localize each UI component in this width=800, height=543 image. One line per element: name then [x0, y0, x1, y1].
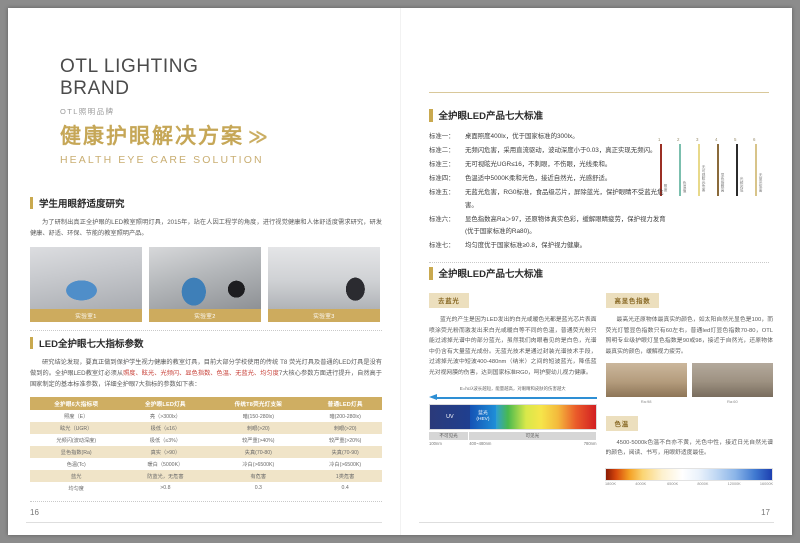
cri-image-2	[692, 363, 773, 397]
table-row: 蓝光 防蓝光，无危害 有危害 1类危害	[30, 470, 382, 482]
standard-item: 标准三： 无可视眩光UGR≤16，不刺眼，不伤眼，光线柔和。	[429, 159, 669, 172]
cct-tick-6: 16000K	[760, 482, 773, 486]
mini-col-5	[736, 144, 738, 196]
cct-tick-5: 12000K	[728, 482, 741, 486]
table-header-0: 全护眼6大指标项	[30, 397, 122, 410]
spectrum-bar: UV 蓝光 (HEV)	[429, 404, 597, 430]
feature-card-group: 去蓝光 蓝光的产生是因为LED发出的白光或暖色光都是蓝光芯片表面喷涂荧光粉而激发…	[429, 290, 773, 459]
section-divider-2	[30, 501, 382, 502]
cri-image-1	[606, 363, 687, 397]
cell-r2c1: 极低（≤3%）	[122, 434, 208, 446]
headline-chinese-text: 健康护眼解决方案	[60, 120, 244, 150]
section-led-parameters: LED全护眼七大指标参数 研究结论发现，要真正做到保护学生视力健康的教室灯具，目…	[30, 336, 382, 502]
lab-photo-strip: 实验室1 实验室2 实验室3	[30, 247, 382, 322]
standard-item: 标准四： 色温适中5000K柔和光色，接近自然光，光感舒适。	[429, 173, 669, 186]
cell-r0c3: 暗(200-280lx)	[308, 410, 382, 422]
card-tag-blue-light: 去蓝光	[429, 293, 469, 308]
cell-r4c0: 色温(Tc)	[30, 458, 122, 470]
mini-label-5: 光频闪低	[740, 177, 745, 192]
standards-list: 标准一： 桌面照度400lx，优于国家标准的300lx。 标准二： 无频闪危害，…	[429, 131, 669, 253]
mini-num-2: 2	[677, 137, 679, 142]
cell-r1c0: 眩光（UGR）	[30, 422, 122, 434]
cell-r1c3: 刺眼(>20)	[308, 422, 382, 434]
standard-item: 标准二： 无频闪危害，采用直流驱动，波动深度小于0.03，真正实现无频闪。	[429, 145, 669, 158]
table-row: 均匀度 >0.8 0.3 0.4	[30, 482, 382, 494]
table-row: 照度（E） 亮（>300lx） 暗(150-280lx) 暗(200-280lx…	[30, 410, 382, 422]
cell-r5c0: 蓝光	[30, 470, 122, 482]
card-body-blue-light: 蓝光的产生是因为LED发出的白光或暖色光都是蓝光芯片表面喷涂荧光粉而激发出来白光…	[429, 315, 597, 378]
cri-sample-2: Ra:60	[692, 363, 773, 404]
table-header-3: 普通LED灯具	[308, 397, 382, 410]
headline-block: 健康护眼解决方案 ≫ HEALTH EYE CARE SOLUTION	[60, 120, 265, 166]
standard-item: 标准一： 桌面照度400lx，优于国家标准的300lx。	[429, 131, 669, 144]
standard-text-6: 显色指数高Ra＞97，还原物体真实色彩，缓解眼睛疲劳，保护视力发育(优于国家标准…	[465, 214, 669, 239]
cell-r3c3: 失真(70-90)	[308, 446, 382, 458]
cri-comparison-pair: Ra:98 Ra:60	[606, 363, 774, 404]
lab-image-2	[149, 247, 261, 309]
mini-num-4: 4	[715, 137, 717, 142]
chevron-right-icon: ≫	[248, 126, 265, 149]
standard-key-2: 标准二：	[429, 145, 465, 158]
mini-col-4	[717, 144, 719, 196]
spectrum-ticks: 100nm 400~480nm 780nm	[429, 441, 597, 449]
section2-keywords: 照度、眩光、光频闪、显色指数、色温、无蓝光、均匀度	[123, 370, 279, 377]
footer-rule-right	[419, 522, 774, 523]
mini-num-3: 3	[696, 137, 698, 142]
page-left: OTL LIGHTING BRAND OTL照明品牌 健康护眼解决方案 ≫ HE…	[8, 8, 400, 535]
cct-tick-1: 1800K	[605, 482, 616, 486]
spectrum-formula-note: E=hc/λ波长越短，能量越高，对眼睛和皮肤的伤害越大	[429, 386, 597, 392]
standard-text-5: 无蓝光危害，RG0标准，食品级芯片，屏除蓝光，保护眼睛不受蓝光危害。	[465, 187, 669, 212]
mini-label-6: 无蓝光危害	[759, 173, 764, 192]
standard-text-1: 桌面照度400lx，优于国家标准的300lx。	[465, 131, 669, 144]
lab-photo-3: 实验室3	[268, 247, 380, 322]
cct-tick-3: 6500K	[667, 482, 678, 486]
table-row: 光频闪(波动深度) 极低（≤3%） 较严重(>40%) 较严重(>20%)	[30, 434, 382, 446]
indicator-mini-diagram: 1 照度 2 色温值 3 无可视眩光危害 4 显色指数高 5 光频闪低 6 无蓝…	[652, 108, 770, 200]
card-color-temperature: 色温 4500-5000k色温不白亦不黄，光色中性，接近日光自然光谱的颜色，阅读…	[606, 413, 774, 459]
spectrum-tick-left: 100nm	[429, 441, 442, 446]
table-row: 眩光（UGR） 极低（≤16） 刺眼(>20) 刺眼(>20)	[30, 422, 382, 434]
standard-item: 标准七： 均匀度优于国家标准≥0.8，保护视力健康。	[429, 240, 669, 253]
page-right: 1 照度 2 色温值 3 无可视眩光危害 4 显色指数高 5 光频闪低 6 无蓝…	[400, 8, 792, 535]
lab-image-3	[268, 247, 380, 309]
mini-label-4: 显色指数高	[721, 173, 726, 192]
table-header-2: 传统T8荧光灯支架	[208, 397, 308, 410]
brand-name-line1: OTL LIGHTING	[60, 56, 198, 78]
standard-key-1: 标准一：	[429, 131, 465, 144]
cell-r6c0: 均匀度	[30, 482, 122, 494]
blue-light-spectrum-chart: E=hc/λ波长越短，能量越高，对眼睛和皮肤的伤害越大 UV 蓝光 (HEV)	[429, 386, 597, 449]
table-row: 显色指数(Ra) 真实（>90） 失真(70-80) 失真(70-90)	[30, 446, 382, 458]
features-heading: 全护眼LED产品七大标准	[429, 266, 773, 280]
spectrum-arrow	[429, 394, 597, 401]
spectrum-uv-band: UV	[430, 405, 470, 429]
headline-english: HEALTH EYE CARE SOLUTION	[60, 154, 265, 166]
section-divider-1	[30, 330, 382, 331]
section1-heading: 学生用眼舒适度研究	[30, 196, 382, 210]
standard-key-6: 标准六：	[429, 214, 465, 239]
table-header-1: 全护眼LED灯具	[122, 397, 208, 410]
standard-text-2: 无频闪危害，采用直流驱动，波动深度小于0.03，真正实现无频闪。	[465, 145, 669, 158]
hev-label-line2: (HEV)	[476, 417, 489, 423]
brand-name-line2: BRAND	[60, 78, 198, 100]
cell-r0c1: 亮（>300lx）	[122, 410, 208, 422]
standard-text-3: 无可视眩光UGR≤16，不刺眼，不伤眼，光线柔和。	[465, 159, 669, 172]
spectrum-legend: 不可见光 可见光	[429, 432, 597, 440]
cell-r2c3: 较严重(>20%)	[308, 434, 382, 446]
standard-key-3: 标准三：	[429, 159, 465, 172]
cri-sample-1: Ra:98	[606, 363, 687, 404]
headline-chinese: 健康护眼解决方案 ≫	[60, 120, 265, 150]
mini-num-5: 5	[734, 137, 736, 142]
page-number-left: 16	[30, 508, 39, 517]
spectrum-visible-band	[496, 405, 595, 429]
cell-r5c3: 1类危害	[308, 470, 382, 482]
footer-rule-left	[26, 522, 382, 523]
cell-r4c1: 暖白（5000K）	[122, 458, 208, 470]
mini-col-6	[755, 144, 757, 196]
card-tag-color-temperature: 色温	[606, 416, 638, 431]
lab-photo-1: 实验室1	[30, 247, 142, 322]
section-divider-right	[429, 262, 769, 263]
cell-r1c2: 刺眼(>20)	[208, 422, 308, 434]
card-body-color-temperature: 4500-5000k色温不白亦不黄，光色中性，接近日光自然光谱的颜色，阅读、书写…	[606, 438, 774, 459]
section1-body: 为了研制出真正全护眼的LED教室照明灯具，2015年，站在人因工程学的角度，进行…	[30, 217, 382, 239]
brand-subtitle: OTL照明品牌	[60, 106, 198, 117]
cell-r0c2: 暗(150-280lx)	[208, 410, 308, 422]
cri-caption-1: Ra:98	[606, 399, 687, 404]
section-feature-cards: 全护眼LED产品七大标准 去蓝光 蓝光的产生是因为LED发出的白光或暖色光都是蓝…	[429, 266, 773, 459]
standard-item: 标准六： 显色指数高Ra＞97，还原物体真实色彩，缓解眼睛疲劳，保护视力发育(优…	[429, 214, 669, 239]
mini-label-2: 色温值	[683, 181, 688, 192]
cell-r6c1: >0.8	[122, 482, 208, 494]
cri-caption-2: Ra:60	[692, 399, 773, 404]
cell-r5c1: 防蓝光，无危害	[122, 470, 208, 482]
card-high-cri: 高显色指数 最高光还原物体最真实的颜色，如太阳自然光显色是100，而荧光灯管显色…	[606, 290, 774, 459]
brand-block: OTL LIGHTING BRAND OTL照明品牌	[60, 56, 198, 117]
arrow-left-icon	[429, 394, 437, 400]
cct-chart: 1800K 4000K 6500K 8000K 12000K 16000K	[605, 462, 773, 490]
card-blue-light: 去蓝光 蓝光的产生是因为LED发出的白光或暖色光都是蓝光芯片表面喷涂荧光粉而激发…	[429, 290, 597, 459]
arrow-line	[437, 397, 597, 399]
lab-caption-1: 实验室1	[30, 309, 142, 322]
mini-col-3	[698, 144, 700, 196]
cell-r4c2: 冷白(>6500K)	[208, 458, 308, 470]
cell-r2c2: 较严重(>40%)	[208, 434, 308, 446]
page-number-right: 17	[761, 508, 770, 517]
table-row: 色温(Tc) 暖白（5000K） 冷白(>6500K) 冷白(>6500K)	[30, 458, 382, 470]
lab-caption-2: 实验室2	[149, 309, 261, 322]
standards-heading: 全护眼LED产品七大标准	[429, 108, 669, 122]
standard-key-7: 标准七：	[429, 240, 465, 253]
standard-item: 标准五： 无蓝光危害，RG0标准，食品级芯片，屏除蓝光，保护眼睛不受蓝光危害。	[429, 187, 669, 212]
cell-r6c3: 0.4	[308, 482, 382, 494]
table-header-row: 全护眼6大指标项 全护眼LED灯具 传统T8荧光灯支架 普通LED灯具	[30, 397, 382, 410]
decorative-hairline	[429, 92, 769, 93]
lab-image-1	[30, 247, 142, 309]
mini-num-6: 6	[753, 137, 755, 142]
cell-r4c3: 冷白(>6500K)	[308, 458, 382, 470]
cct-tick-4: 8000K	[697, 482, 708, 486]
legend-visible: 可见光	[469, 432, 596, 440]
cell-r3c2: 失真(70-80)	[208, 446, 308, 458]
parameter-table: 全护眼6大指标项 全护眼LED灯具 传统T8荧光灯支架 普通LED灯具 照度（E…	[30, 397, 382, 494]
standard-key-5: 标准五：	[429, 187, 465, 212]
spectrum-tick-mid: 400~480nm	[469, 441, 491, 446]
section-seven-standards: 全护眼LED产品七大标准 标准一： 桌面照度400lx，优于国家标准的300lx…	[429, 108, 669, 263]
section2-body: 研究结论发现，要真正做到保护学生视力健康的教室灯具，目前大部分学校使用的传统 T…	[30, 357, 382, 390]
cell-r2c0: 光频闪(波动深度)	[30, 434, 122, 446]
lab-caption-3: 实验室3	[268, 309, 380, 322]
lab-photo-2: 实验室2	[149, 247, 261, 322]
cct-tick-labels: 1800K 4000K 6500K 8000K 12000K 16000K	[605, 482, 773, 490]
cell-r5c2: 有危害	[208, 470, 308, 482]
spectrum-tick-right: 780nm	[584, 441, 597, 446]
section-student-research: 学生用眼舒适度研究 为了研制出真正全护眼的LED教室照明灯具，2015年，站在人…	[30, 196, 382, 331]
cct-gradient-bar	[605, 468, 773, 481]
spectrum-hev-band: 蓝光 (HEV)	[470, 405, 496, 429]
cell-r6c2: 0.3	[208, 482, 308, 494]
cell-r3c1: 真实（>90）	[122, 446, 208, 458]
cell-r1c1: 极低（≤16）	[122, 422, 208, 434]
mini-col-2	[679, 144, 681, 196]
card-body-high-cri: 最高光还原物体最真实的颜色，如太阳自然光显色是100，而荧光灯管显色指数只有60…	[606, 315, 774, 357]
cell-r0c0: 照度（E）	[30, 410, 122, 422]
standard-key-4: 标准四：	[429, 173, 465, 186]
brochure-spread: OTL LIGHTING BRAND OTL照明品牌 健康护眼解决方案 ≫ HE…	[8, 8, 792, 535]
card-tag-high-cri: 高显色指数	[606, 293, 660, 308]
cell-r3c0: 显色指数(Ra)	[30, 446, 122, 458]
cct-tick-2: 4000K	[635, 482, 646, 486]
legend-invisible: 不可见光	[429, 432, 469, 440]
standard-text-4: 色温适中5000K柔和光色，接近自然光，光感舒适。	[465, 173, 669, 186]
section2-heading: LED全护眼七大指标参数	[30, 336, 382, 350]
mini-label-3: 无可视眩光危害	[702, 165, 707, 192]
standard-text-7: 均匀度优于国家标准≥0.8，保护视力健康。	[465, 240, 669, 253]
